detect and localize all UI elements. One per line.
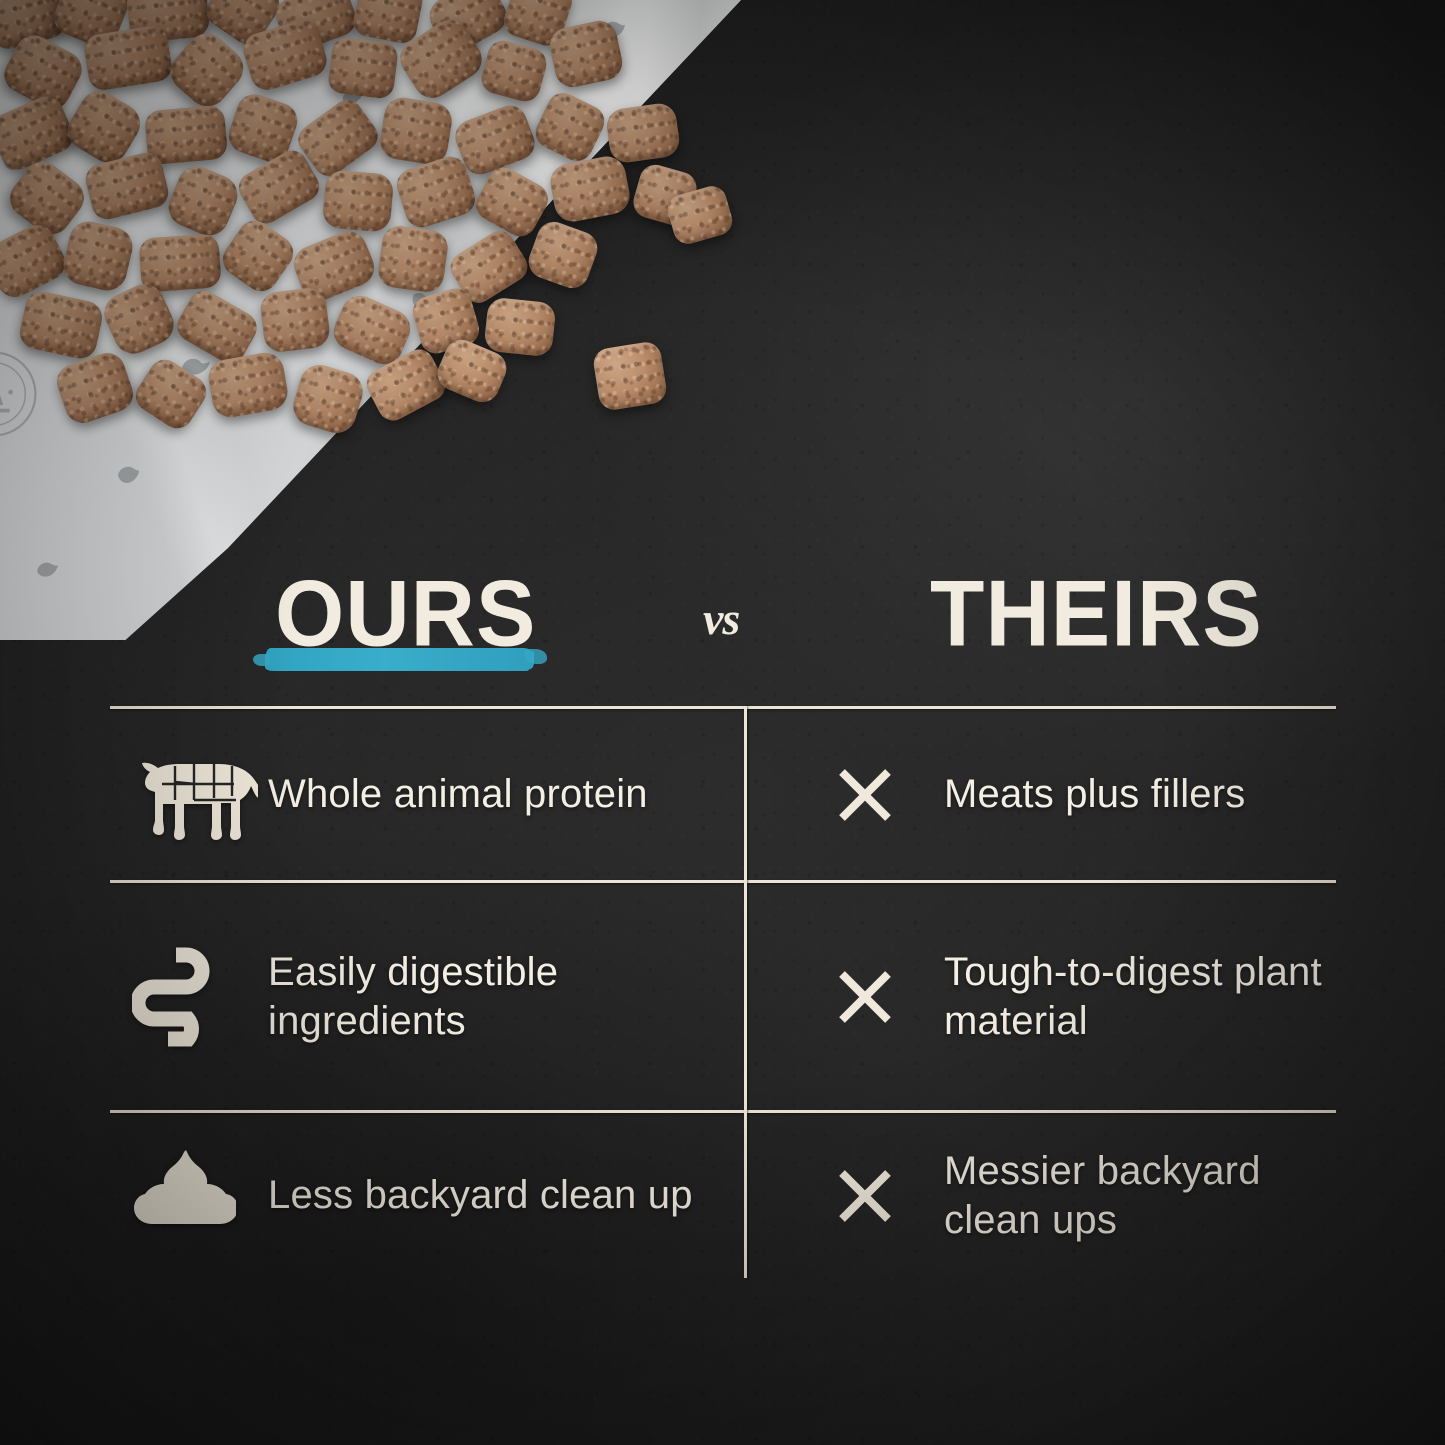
vignette-overlay [0,0,1445,1445]
comparison-infographic: OURS vs THEIRS [0,0,1445,1445]
